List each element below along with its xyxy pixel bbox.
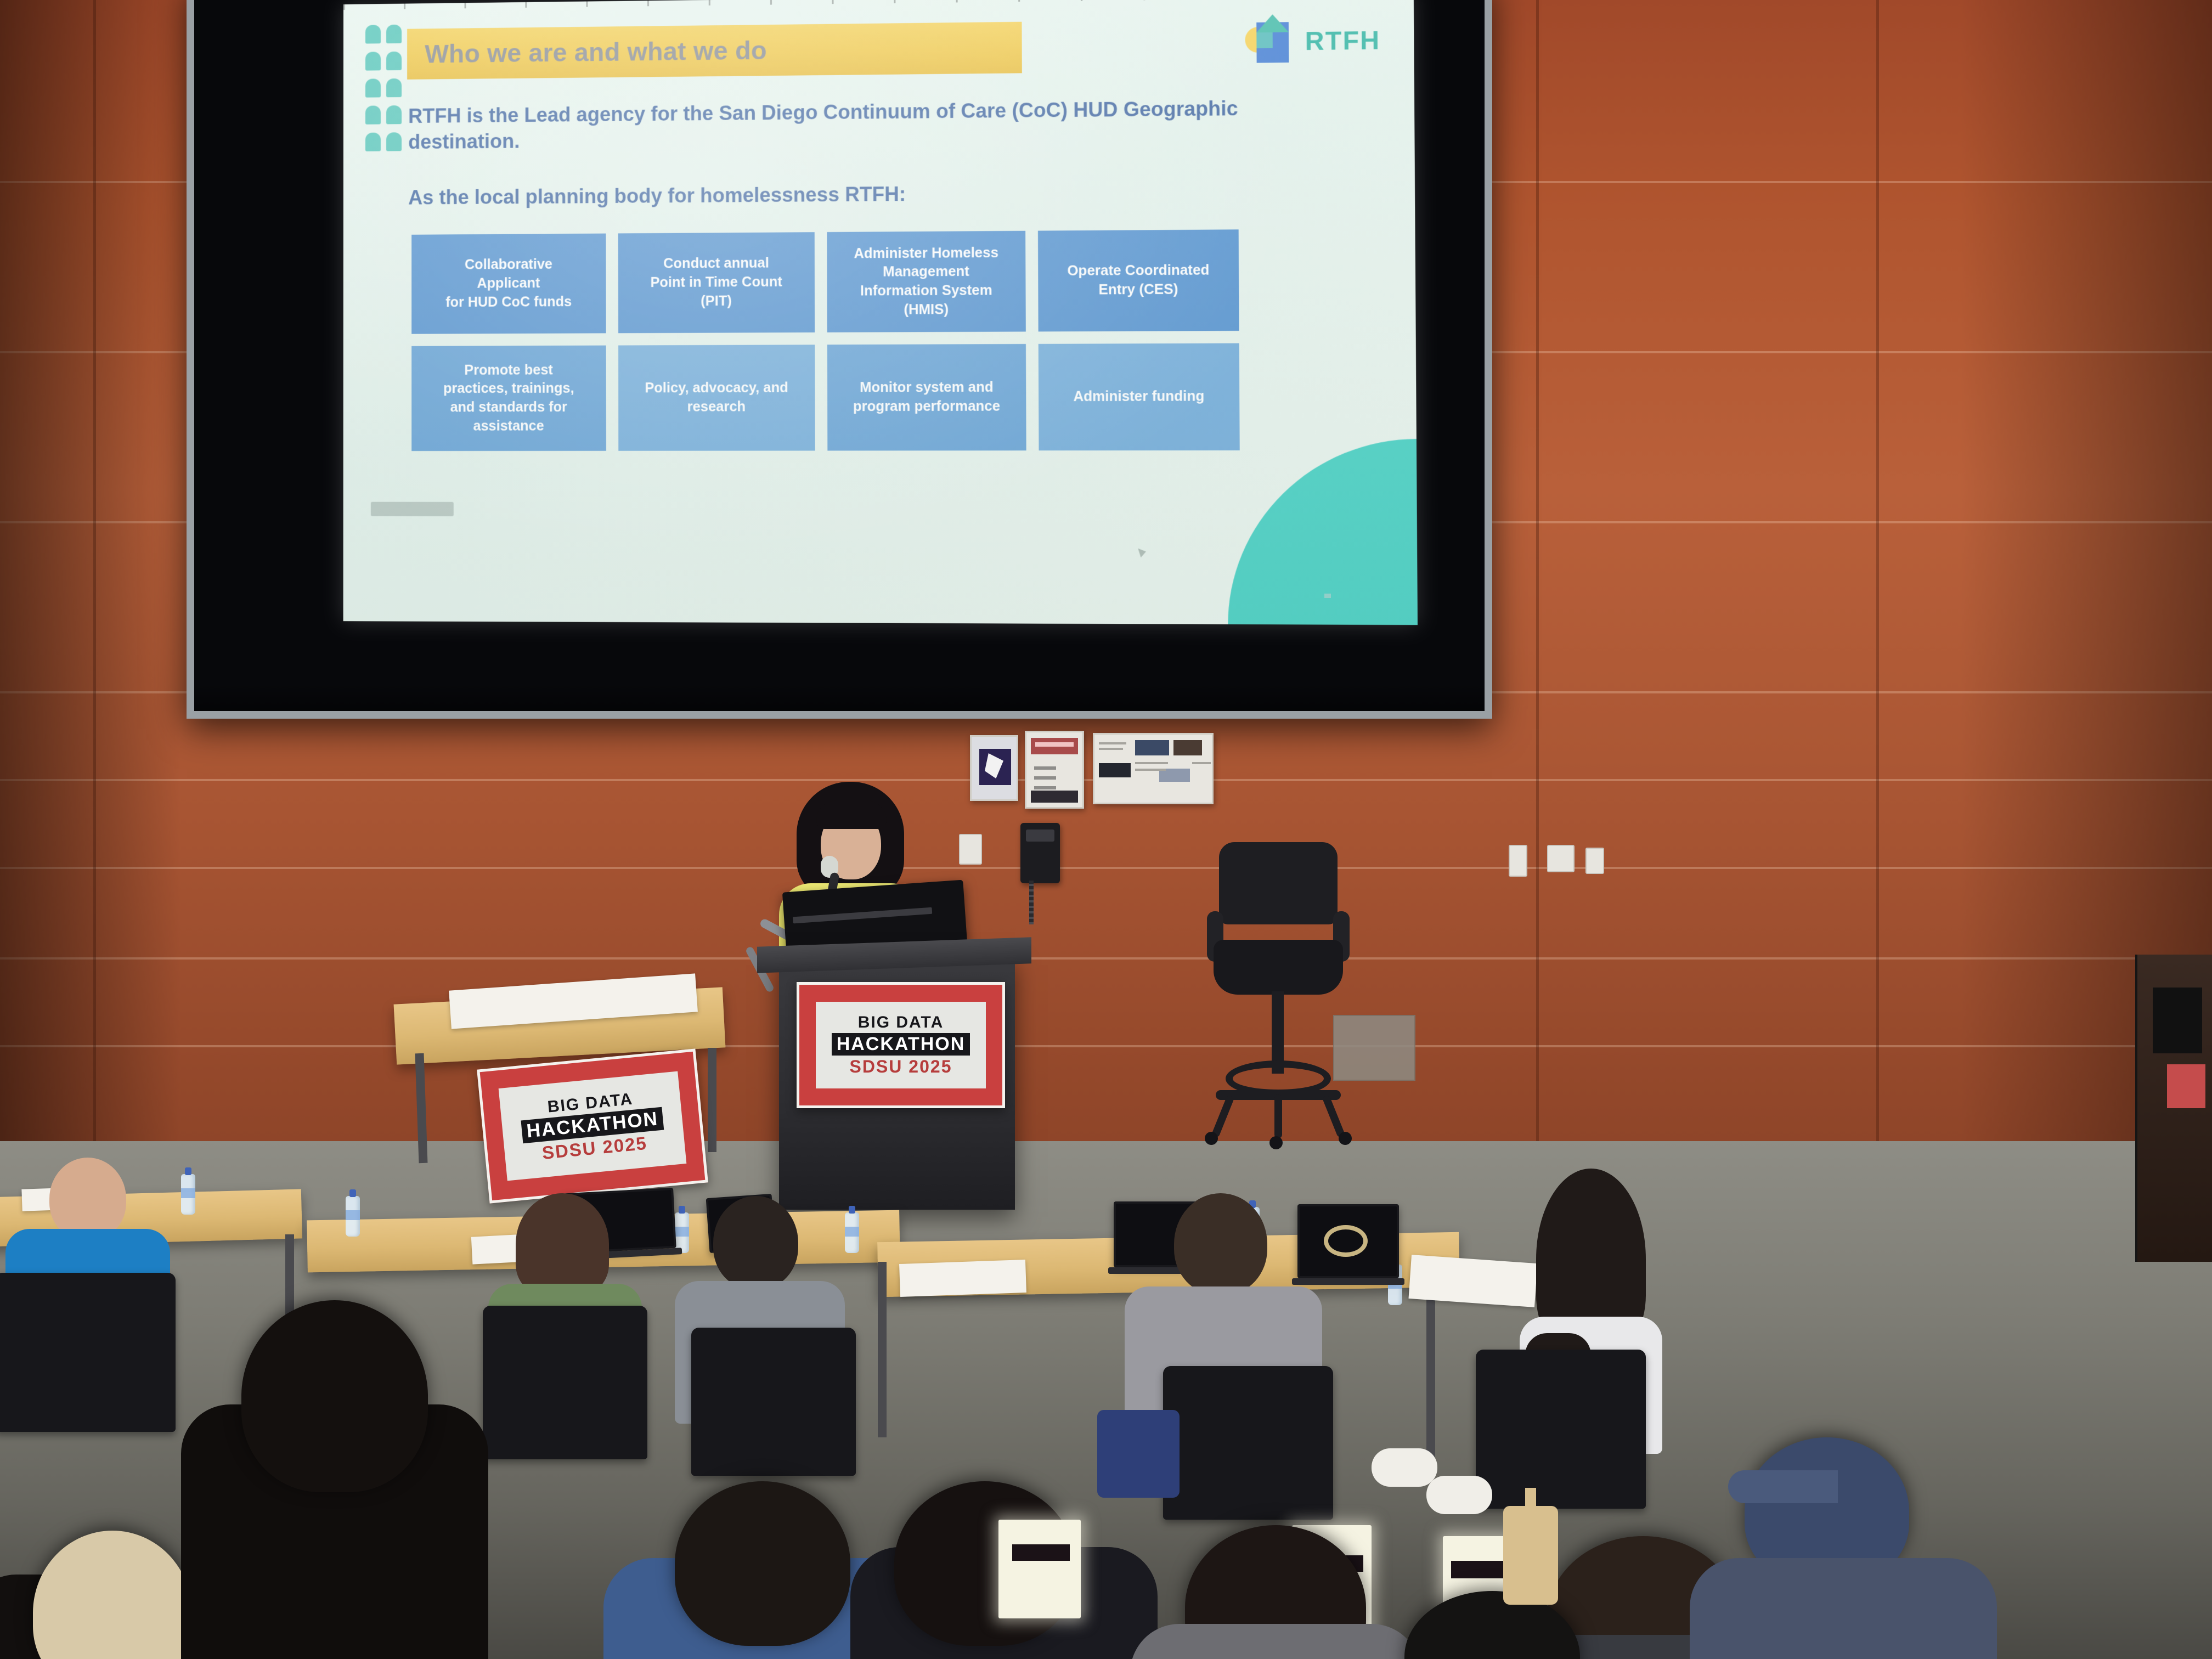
tote-bag	[1097, 1410, 1180, 1498]
poster-text-line	[1135, 762, 1168, 764]
slide-title: Who we are and what we do	[425, 35, 767, 69]
banner-line-2: HACKATHON	[832, 1033, 970, 1056]
wall-poster-research	[1093, 733, 1214, 804]
responsibility-box: Operate Coordinated Entry (CES)	[1038, 229, 1239, 331]
table-leg	[708, 1048, 716, 1152]
person-head	[713, 1196, 798, 1289]
foreground-person-shoulders	[1690, 1558, 1997, 1659]
foreground-laptop-screen	[998, 1520, 1081, 1618]
sneaker	[1372, 1448, 1437, 1487]
wall-switch-plate[interactable]	[959, 834, 982, 865]
responsibility-box: Conduct annual Point in Time Count (PIT)	[618, 232, 815, 333]
chair-caster	[1205, 1132, 1218, 1145]
laptop-screen-content	[1451, 1561, 1506, 1578]
chair-backrest	[1219, 842, 1338, 924]
presentation-slide: Who we are and what we do RTFH RTFH is t…	[343, 0, 1418, 625]
wall-mortar-line	[0, 867, 2212, 869]
slide-accent-corner	[1227, 439, 1418, 625]
slide-cursor-mark	[1138, 549, 1146, 557]
paddle-handle	[1525, 1488, 1536, 1513]
chair-caster	[1269, 1136, 1283, 1149]
slide-top-notches	[343, 0, 1414, 10]
chair-leg	[1211, 1094, 1235, 1138]
water-bottle[interactable]	[346, 1196, 360, 1237]
screen-surface: Who we are and what we do RTFH RTFH is t…	[194, 0, 1485, 711]
poster-footer-band	[1031, 791, 1078, 803]
wall-outlet-plate[interactable]	[1585, 848, 1604, 874]
laptop-screen-content	[1012, 1544, 1070, 1561]
right-panel-display	[2153, 988, 2202, 1053]
rtfh-house-icon	[1245, 18, 1295, 65]
laptop-sticker	[1324, 1225, 1368, 1257]
slide-paragraph-2: As the local planning body for homelessn…	[408, 178, 1286, 211]
poster-image	[1173, 740, 1202, 755]
phone-cord	[1029, 881, 1034, 924]
responsibility-box: Policy, advocacy, and research	[618, 345, 815, 450]
rtfh-logo: RTFH	[1245, 16, 1381, 65]
poster-image	[1135, 740, 1169, 755]
slide-watermark-badge	[371, 502, 454, 516]
poster-header-band	[1031, 738, 1078, 754]
screen-bottom-shadow	[194, 684, 1485, 711]
screen-speck	[1324, 594, 1331, 598]
chair-leg	[1274, 1094, 1282, 1138]
poster-text-line	[1192, 762, 1211, 764]
person-head	[1174, 1193, 1267, 1295]
banner-line-3: SDSU 2025	[850, 1057, 952, 1077]
banner-line-1: BIG DATA	[858, 1013, 944, 1032]
hackathon-banner-table: BIG DATA HACKATHON SDSU 2025	[477, 1048, 708, 1203]
wooden-paddle	[1503, 1506, 1558, 1605]
wall-mortar-line	[0, 957, 2212, 960]
wall-poster-notice	[1025, 731, 1084, 809]
responsibility-box: Promote best practices, trainings, and s…	[411, 346, 606, 451]
presenter-bangs	[816, 800, 887, 829]
poster-text-line	[1099, 748, 1123, 750]
audience-chair[interactable]	[0, 1273, 176, 1432]
foreground-person-head	[241, 1300, 428, 1492]
slide-paragraph-1: RTFH is the Lead agency for the San Dieg…	[408, 95, 1286, 155]
foreground-person-head	[675, 1481, 850, 1646]
poster-text-line	[1034, 786, 1056, 789]
poster-graphic	[979, 749, 1011, 785]
responsibility-box: Collaborative Applicant for HUD CoC fund…	[411, 234, 606, 334]
wall-mortar-line	[0, 1045, 2212, 1047]
wall-shadow-left	[0, 0, 181, 1163]
water-bottle[interactable]	[845, 1212, 859, 1253]
chair-caster	[1339, 1132, 1352, 1145]
poster-text-line	[1135, 769, 1166, 771]
person-head	[49, 1158, 126, 1240]
poster-text-line	[1034, 766, 1056, 770]
table-leg	[878, 1262, 887, 1437]
wall-poster-small	[970, 735, 1018, 801]
laptop-with-sticker[interactable]	[1297, 1204, 1399, 1278]
foreground-person-shoulders	[1130, 1624, 1421, 1659]
chair-leg	[1322, 1094, 1346, 1138]
cap-brim	[1728, 1470, 1838, 1503]
house-roof-icon	[1257, 14, 1289, 32]
sneaker	[1426, 1476, 1492, 1514]
banner-inner: BIG DATA HACKATHON SDSU 2025	[816, 1002, 986, 1088]
decorative-house-dots	[365, 25, 402, 155]
responsibility-box: Administer Homeless Management Informati…	[827, 231, 1026, 332]
projection-screen: Who we are and what we do RTFH RTFH is t…	[187, 0, 1492, 719]
hackathon-banner-podium: BIG DATA HACKATHON SDSU 2025	[797, 982, 1005, 1108]
slide-title-banner: Who we are and what we do	[407, 22, 1022, 80]
poster-text-line	[1099, 742, 1126, 744]
table-leg	[1426, 1286, 1435, 1468]
wall-seam	[1876, 0, 1879, 1163]
wall-phone[interactable]	[1020, 823, 1060, 883]
right-panel-red-card	[2167, 1064, 2205, 1108]
audience-chair[interactable]	[691, 1328, 856, 1476]
poster-image	[1099, 763, 1131, 777]
chair-seat	[1214, 940, 1343, 995]
responsibility-box: Monitor system and program performance	[827, 344, 1026, 451]
audience-chair[interactable]	[1476, 1350, 1646, 1509]
presentation-scene: Who we are and what we do RTFH RTFH is t…	[0, 0, 2212, 1659]
house-roof-accent-icon	[1257, 32, 1273, 48]
wall-switch-plate[interactable]	[1509, 845, 1527, 877]
responsibilities-grid: Collaborative Applicant for HUD CoC fund…	[411, 229, 1240, 451]
banner-inner: BIG DATA HACKATHON SDSU 2025	[499, 1071, 686, 1181]
rtfh-logo-text: RTFH	[1305, 25, 1381, 56]
responsibility-box: Administer funding	[1039, 343, 1240, 451]
poster-text-line	[1034, 776, 1056, 780]
water-bottle[interactable]	[181, 1174, 195, 1215]
wall-seam	[1536, 0, 1539, 1163]
person-hair	[516, 1193, 609, 1295]
wall-outlet-plate[interactable]	[1547, 845, 1575, 872]
table-paper	[899, 1260, 1026, 1297]
audience-chair[interactable]	[483, 1306, 647, 1459]
drafting-chair[interactable]	[1196, 842, 1361, 1149]
audience-chair[interactable]	[1163, 1366, 1333, 1520]
